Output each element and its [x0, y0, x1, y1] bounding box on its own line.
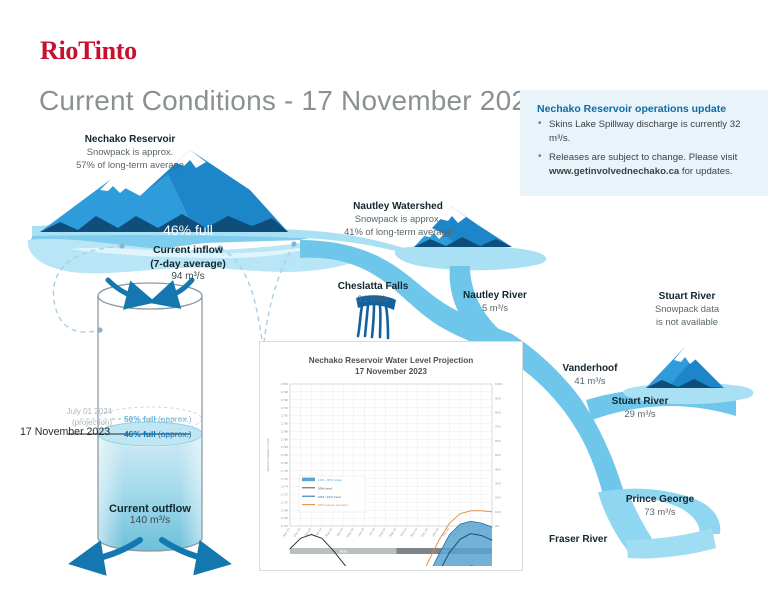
flow-value: 29 m³/s [585, 408, 695, 421]
svg-text:10%: 10% [495, 510, 501, 514]
current-level-label: 46% full (approx.) [124, 429, 192, 439]
site-sub-1: Snowpack data [622, 303, 752, 316]
svg-text:90% / 10% trend: 90% / 10% trend [318, 495, 341, 499]
label-stuart-watershed: Stuart River Snowpack data is not availa… [622, 290, 752, 328]
svg-text:20%: 20% [495, 496, 501, 500]
current-date-label: 17 November 2023 [20, 426, 110, 438]
chart-title-line1: Nechako Reservoir Water Level Projection [260, 355, 522, 366]
svg-text:2,784: 2,784 [281, 445, 289, 449]
flow-value: 73 m³/s [600, 506, 720, 519]
waterfall-icon [358, 305, 388, 338]
svg-text:2,792: 2,792 [281, 414, 289, 418]
svg-text:60%: 60% [495, 439, 501, 443]
site-sub-1: Snowpack is approx. [30, 146, 230, 159]
svg-text:2,768: 2,768 [281, 508, 289, 512]
chart-title: Nechako Reservoir Water Level Projection… [260, 355, 522, 377]
svg-text:Jul-24: Jul-24 [368, 527, 376, 536]
label-stuart-river-flow: Stuart River 29 m³/s [585, 395, 695, 421]
svg-text:50% release scenario: 50% release scenario [318, 503, 348, 507]
flow-name: Stuart River [585, 395, 695, 408]
svg-text:40%: 40% [495, 467, 501, 471]
label-vanderhoof: Vanderhoof 41 m³/s [540, 362, 640, 388]
flow-name: Prince George [600, 493, 720, 506]
flow-name: Cheslatta Falls [318, 280, 428, 293]
svg-text:Apr-24: Apr-24 [335, 527, 344, 537]
svg-text:2,798: 2,798 [281, 390, 289, 394]
current-inflow-block: Current inflow (7-day average) 94 m³/s [108, 244, 268, 282]
svg-text:70%: 70% [495, 425, 501, 429]
svg-text:2,790: 2,790 [281, 422, 289, 426]
label-nechako-reservoir: Nechako Reservoir Snowpack is approx. 57… [30, 133, 230, 171]
flow-value: 5 m³/s [440, 302, 550, 315]
site-name: Stuart River [622, 290, 752, 303]
site-name: Nautley Watershed [318, 200, 478, 213]
flow-value: 31 m³/s [318, 293, 428, 306]
current-outflow-block: Current outflow 140 m³/s [90, 503, 210, 526]
svg-text:Aug-24: Aug-24 [377, 527, 386, 538]
svg-text:Dec-23: Dec-23 [292, 527, 301, 538]
site-sub-2: 57% of long-term average [30, 159, 230, 172]
svg-text:2,786: 2,786 [281, 437, 289, 441]
flow-value: 41 m³/s [540, 375, 640, 388]
svg-text:2,766: 2,766 [281, 516, 289, 520]
svg-text:2,800: 2,800 [281, 382, 289, 386]
projection-level-value: 50% full [124, 414, 156, 424]
outflow-value: 140 m³/s [90, 515, 210, 526]
current-level-approx: (approx.) [156, 429, 192, 439]
label-fraser-river: Fraser River [549, 533, 607, 546]
chart-canvas: 2,8002,7982,7962,7942,7922,7902,7882,786… [260, 376, 522, 566]
svg-text:90%: 90% [495, 396, 501, 400]
svg-text:30%: 30% [495, 482, 501, 486]
svg-text:2,788: 2,788 [281, 429, 289, 433]
svg-text:10% - 90% range: 10% - 90% range [318, 478, 342, 482]
reservoir-full-badge: 46% full [118, 222, 258, 238]
nautley-lake [395, 245, 546, 270]
svg-text:2,796: 2,796 [281, 398, 289, 402]
svg-text:Sep-24: Sep-24 [388, 527, 397, 538]
svg-text:Reservoir Elevation (masl): Reservoir Elevation (masl) [266, 439, 270, 472]
svg-text:Mar-24: Mar-24 [324, 527, 333, 538]
svg-text:0%: 0% [495, 524, 500, 528]
projection-date-label: July 01 2024 (projection) [28, 407, 112, 428]
label-nautley-river: Nautley River 5 m³/s [440, 289, 550, 315]
svg-text:Nov-23: Nov-23 [282, 527, 291, 538]
svg-text:Oct-24: Oct-24 [399, 527, 408, 537]
projection-level-label: 50% full (approx.) [124, 414, 192, 424]
flow-name: Nautley River [440, 289, 550, 302]
label-prince-george: Prince George 73 m³/s [600, 493, 720, 519]
svg-text:2,778: 2,778 [281, 469, 289, 473]
site-name: Nechako Reservoir [30, 133, 230, 146]
inflow-label-line1: Current inflow [108, 244, 268, 258]
flow-name: Vanderhoof [540, 362, 640, 375]
flow-name: Fraser River [549, 533, 607, 546]
svg-text:May-24: May-24 [345, 527, 354, 538]
svg-text:2,782: 2,782 [281, 453, 289, 457]
inflow-value: 94 m³/s [108, 271, 268, 282]
svg-text:Jan-25: Jan-25 [431, 527, 440, 537]
svg-text:2,772: 2,772 [281, 493, 289, 497]
svg-text:2,780: 2,780 [281, 461, 289, 465]
svg-text:2,774: 2,774 [281, 485, 289, 489]
inflow-label-line2: (7-day average) [108, 258, 268, 272]
projection-level-approx: (approx.) [156, 414, 192, 424]
mountain-icon-stuart [646, 348, 724, 388]
label-nautley-watershed: Nautley Watershed Snowpack is approx. 41… [318, 200, 478, 238]
svg-text:Jun-24: Jun-24 [357, 527, 366, 537]
svg-text:Dec-24: Dec-24 [420, 527, 429, 538]
svg-text:Nov-24: Nov-24 [409, 527, 418, 538]
svg-text:2,794: 2,794 [281, 406, 289, 410]
svg-text:50% trend: 50% trend [318, 486, 332, 490]
water-level-projection-chart[interactable]: Nechako Reservoir Water Level Projection… [259, 341, 523, 571]
svg-text:100%: 100% [495, 382, 503, 386]
projection-date-line1: July 01 2024 [28, 407, 112, 418]
current-level-value: 46% full [124, 429, 156, 439]
site-sub-2: is not available [622, 316, 752, 329]
svg-text:2023: 2023 [339, 549, 347, 553]
svg-text:80%: 80% [495, 411, 501, 415]
svg-text:50%: 50% [495, 453, 501, 457]
svg-text:2,776: 2,776 [281, 477, 289, 481]
svg-text:2,770: 2,770 [281, 500, 289, 504]
label-cheslatta-falls: Cheslatta Falls 31 m³/s [318, 280, 428, 306]
site-sub-1: Snowpack is approx. [318, 213, 478, 226]
site-sub-2: 41% of long-term average [318, 226, 478, 239]
outflow-label: Current outflow [90, 503, 210, 515]
